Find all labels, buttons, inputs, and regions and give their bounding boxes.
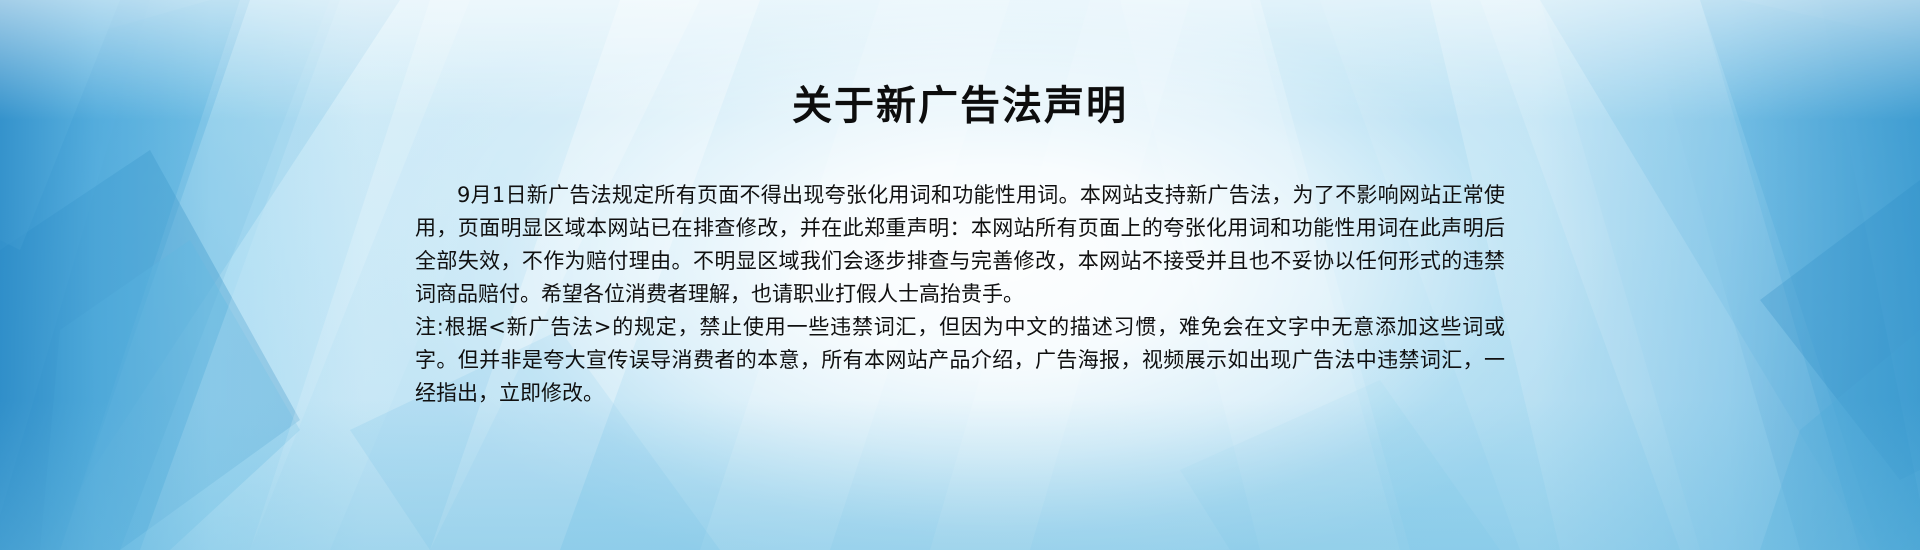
statement-paragraph-note: 注:根据<新广告法>的规定，禁止使用一些违禁词汇，但因为中文的描述习惯，难免会在…: [415, 311, 1505, 410]
statement-body: 9月1日新广告法规定所有页面不得出现夸张化用词和功能性用词。本网站支持新广告法，…: [415, 179, 1505, 410]
advertising-law-statement-banner: 关于新广告法声明 9月1日新广告法规定所有页面不得出现夸张化用词和功能性用词。本…: [0, 0, 1920, 550]
statement-content: 关于新广告法声明 9月1日新广告法规定所有页面不得出现夸张化用词和功能性用词。本…: [0, 0, 1920, 550]
page-title: 关于新广告法声明: [792, 82, 1128, 130]
statement-paragraph-main: 9月1日新广告法规定所有页面不得出现夸张化用词和功能性用词。本网站支持新广告法，…: [415, 179, 1505, 311]
